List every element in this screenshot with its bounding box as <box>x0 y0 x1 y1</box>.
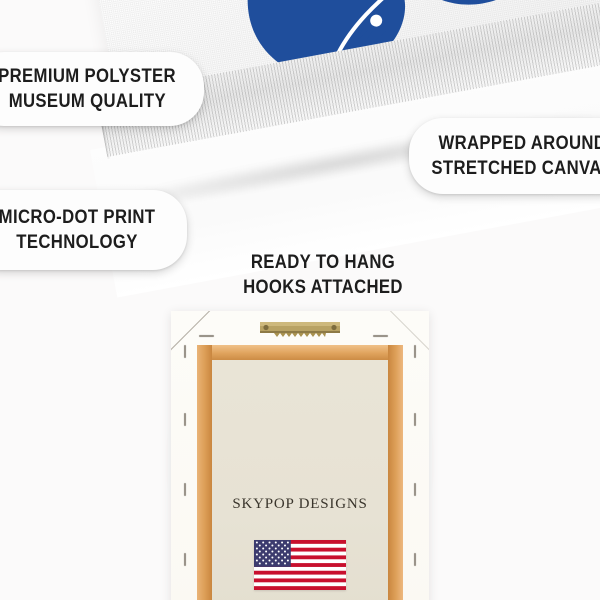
callout-micro-dot-print: MICRO-DOT PRINT TECHNOLOGY <box>0 190 187 270</box>
canvas-back-view: SKYPOP DESIGNS <box>171 311 429 600</box>
callout-line-1: PREMIUM POLYSTER <box>0 64 176 89</box>
callout-line-2: HOOKS ATTACHED <box>239 275 406 300</box>
sawtooth-hanger <box>260 322 340 337</box>
callout-ready-to-hang: READY TO HANG HOOKS ATTACHED <box>228 250 418 300</box>
callout-line-2: MUSEUM QUALITY <box>8 89 165 114</box>
staple <box>184 553 186 566</box>
staple <box>184 483 186 496</box>
staple <box>184 345 186 358</box>
stretcher-bar-right <box>388 345 403 600</box>
stretcher-bar-left <box>197 345 212 600</box>
us-flag-icon <box>254 540 346 590</box>
callout-wrapped-around: WRAPPED AROUND STRETCHED CANVAS <box>409 118 600 194</box>
stretcher-bar-top <box>197 345 403 360</box>
staple <box>414 553 416 566</box>
staple <box>414 483 416 496</box>
callout-line-2: TECHNOLOGY <box>17 230 138 255</box>
callout-line-1: READY TO HANG <box>239 250 406 275</box>
canvas-back-panel: SKYPOP DESIGNS <box>212 360 388 600</box>
staple <box>184 413 186 426</box>
callout-line-2: STRETCHED CANVAS <box>431 156 600 181</box>
staple <box>414 413 416 426</box>
callout-line-1: WRAPPED AROUND <box>438 131 600 156</box>
infographic-canvas: PREMIUM POLYSTER MUSEUM QUALITY WRAPPED … <box>0 0 600 600</box>
callout-premium-polyster: PREMIUM POLYSTER MUSEUM QUALITY <box>0 52 204 126</box>
callout-line-1: MICRO-DOT PRINT <box>0 205 156 230</box>
brand-name: SKYPOP DESIGNS <box>212 496 388 513</box>
staple <box>414 345 416 358</box>
staple <box>199 335 214 337</box>
staple <box>373 335 388 337</box>
